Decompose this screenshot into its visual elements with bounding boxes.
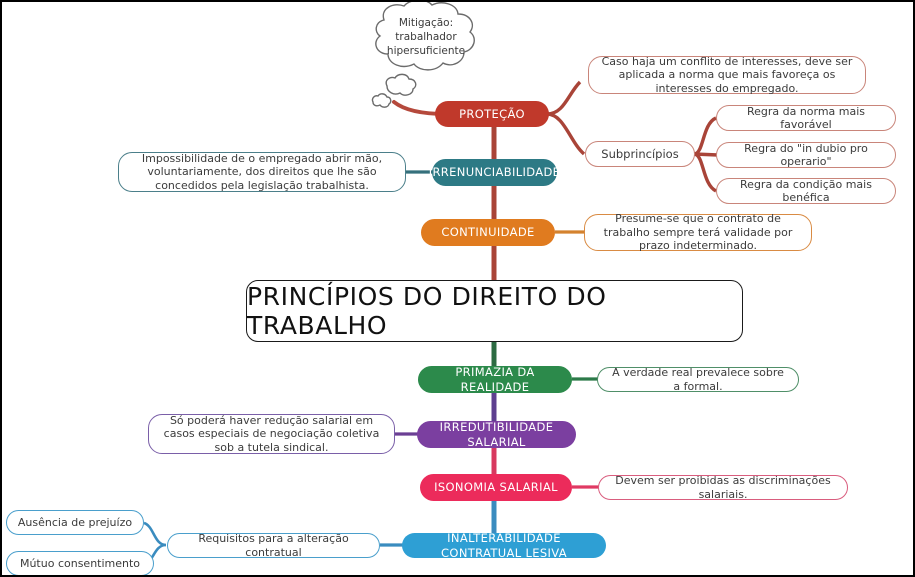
note-isonomia: Devem ser proibidas as discriminações sa… xyxy=(598,475,848,500)
sub-item-in-dubio: Regra do "in dubio pro operario" xyxy=(716,142,896,168)
note-continuidade-text: Presume-se que o contrato de trabalho se… xyxy=(594,212,802,252)
page-title: PRINCÍPIOS DO DIREITO DO TRABALHO xyxy=(246,280,743,342)
node-protecao[interactable]: PROTEÇÃO xyxy=(435,101,549,127)
mindmap-canvas: Mitigação: trabalhador hipersuficiente P… xyxy=(0,0,915,577)
node-isonomia-salarial[interactable]: ISONOMIA SALARIAL xyxy=(420,474,572,501)
node-inalterabilidade-contratual-lesiva[interactable]: INALTERABILIDADE CONTRATUAL LESIVA xyxy=(402,533,606,558)
requisito-label: Ausência de prejuízo xyxy=(18,516,132,529)
thought-bubble: Mitigação: trabalhador hipersuficiente xyxy=(354,2,494,112)
page-title-text: PRINCÍPIOS DO DIREITO DO TRABALHO xyxy=(247,282,742,340)
note-protecao-text: Caso haja um conflito de interesses, dev… xyxy=(598,55,856,95)
node-protecao-label: PROTEÇÃO xyxy=(459,107,525,121)
note-primazia-text: A verdade real prevalece sobre a formal. xyxy=(607,366,789,393)
note-irredutibilidade: Só poderá haver redução salarial em caso… xyxy=(148,414,395,454)
node-inalterabilidade-label: INALTERABILIDADE CONTRATUAL LESIVA xyxy=(412,531,596,559)
sub-item-label: Regra da condição mais benéfica xyxy=(726,178,886,205)
note-continuidade: Presume-se que o contrato de trabalho se… xyxy=(584,214,812,251)
node-subprincipios[interactable]: Subprincípios xyxy=(585,141,695,167)
note-isonomia-text: Devem ser proibidas as discriminações sa… xyxy=(608,474,838,501)
note-irredutibilidade-text: Só poderá haver redução salarial em caso… xyxy=(158,414,385,454)
note-irrenunciabilidade: Impossibilidade de o empregado abrir mão… xyxy=(118,152,406,192)
node-primazia-da-realidade[interactable]: PRIMAZIA DA REALIDADE xyxy=(418,366,572,393)
sub-item-label: Regra da norma mais favorável xyxy=(726,105,886,132)
note-primazia: A verdade real prevalece sobre a formal. xyxy=(597,367,799,392)
requisito-mutuo-consentimento: Mútuo consentimento xyxy=(6,551,154,576)
node-irrenunciabilidade[interactable]: IRRENUNCIABILIDADE xyxy=(432,159,557,186)
note-requisitos-text: Requisitos para a alteração contratual xyxy=(177,532,370,559)
note-protecao: Caso haja um conflito de interesses, dev… xyxy=(588,56,866,94)
sub-item-norma-favoravel: Regra da norma mais favorável xyxy=(716,105,896,131)
node-irredutibilidade-label: IRREDUTIBILIDADE SALARIAL xyxy=(427,420,566,448)
sub-item-label: Regra do "in dubio pro operario" xyxy=(726,142,886,169)
node-primazia-label: PRIMAZIA DA REALIDADE xyxy=(428,365,562,393)
note-irrenunciabilidade-text: Impossibilidade de o empregado abrir mão… xyxy=(128,152,396,192)
note-requisitos-alteracao: Requisitos para a alteração contratual xyxy=(167,533,380,558)
requisito-label: Mútuo consentimento xyxy=(20,557,140,570)
node-irrenunciabilidade-label: IRRENUNCIABILIDADE xyxy=(429,165,561,179)
node-continuidade-label: CONTINUIDADE xyxy=(441,225,534,239)
node-irredutibilidade-salarial[interactable]: IRREDUTIBILIDADE SALARIAL xyxy=(417,421,576,448)
thought-bubble-text: Mitigação: trabalhador hipersuficiente xyxy=(376,12,476,64)
node-continuidade[interactable]: CONTINUIDADE xyxy=(421,219,555,246)
requisito-ausencia-de-prejuizo: Ausência de prejuízo xyxy=(6,510,144,535)
node-isonomia-label: ISONOMIA SALARIAL xyxy=(434,480,558,494)
sub-item-condicao-benefica: Regra da condição mais benéfica xyxy=(716,178,896,204)
node-subprincipios-label: Subprincípios xyxy=(601,147,678,161)
